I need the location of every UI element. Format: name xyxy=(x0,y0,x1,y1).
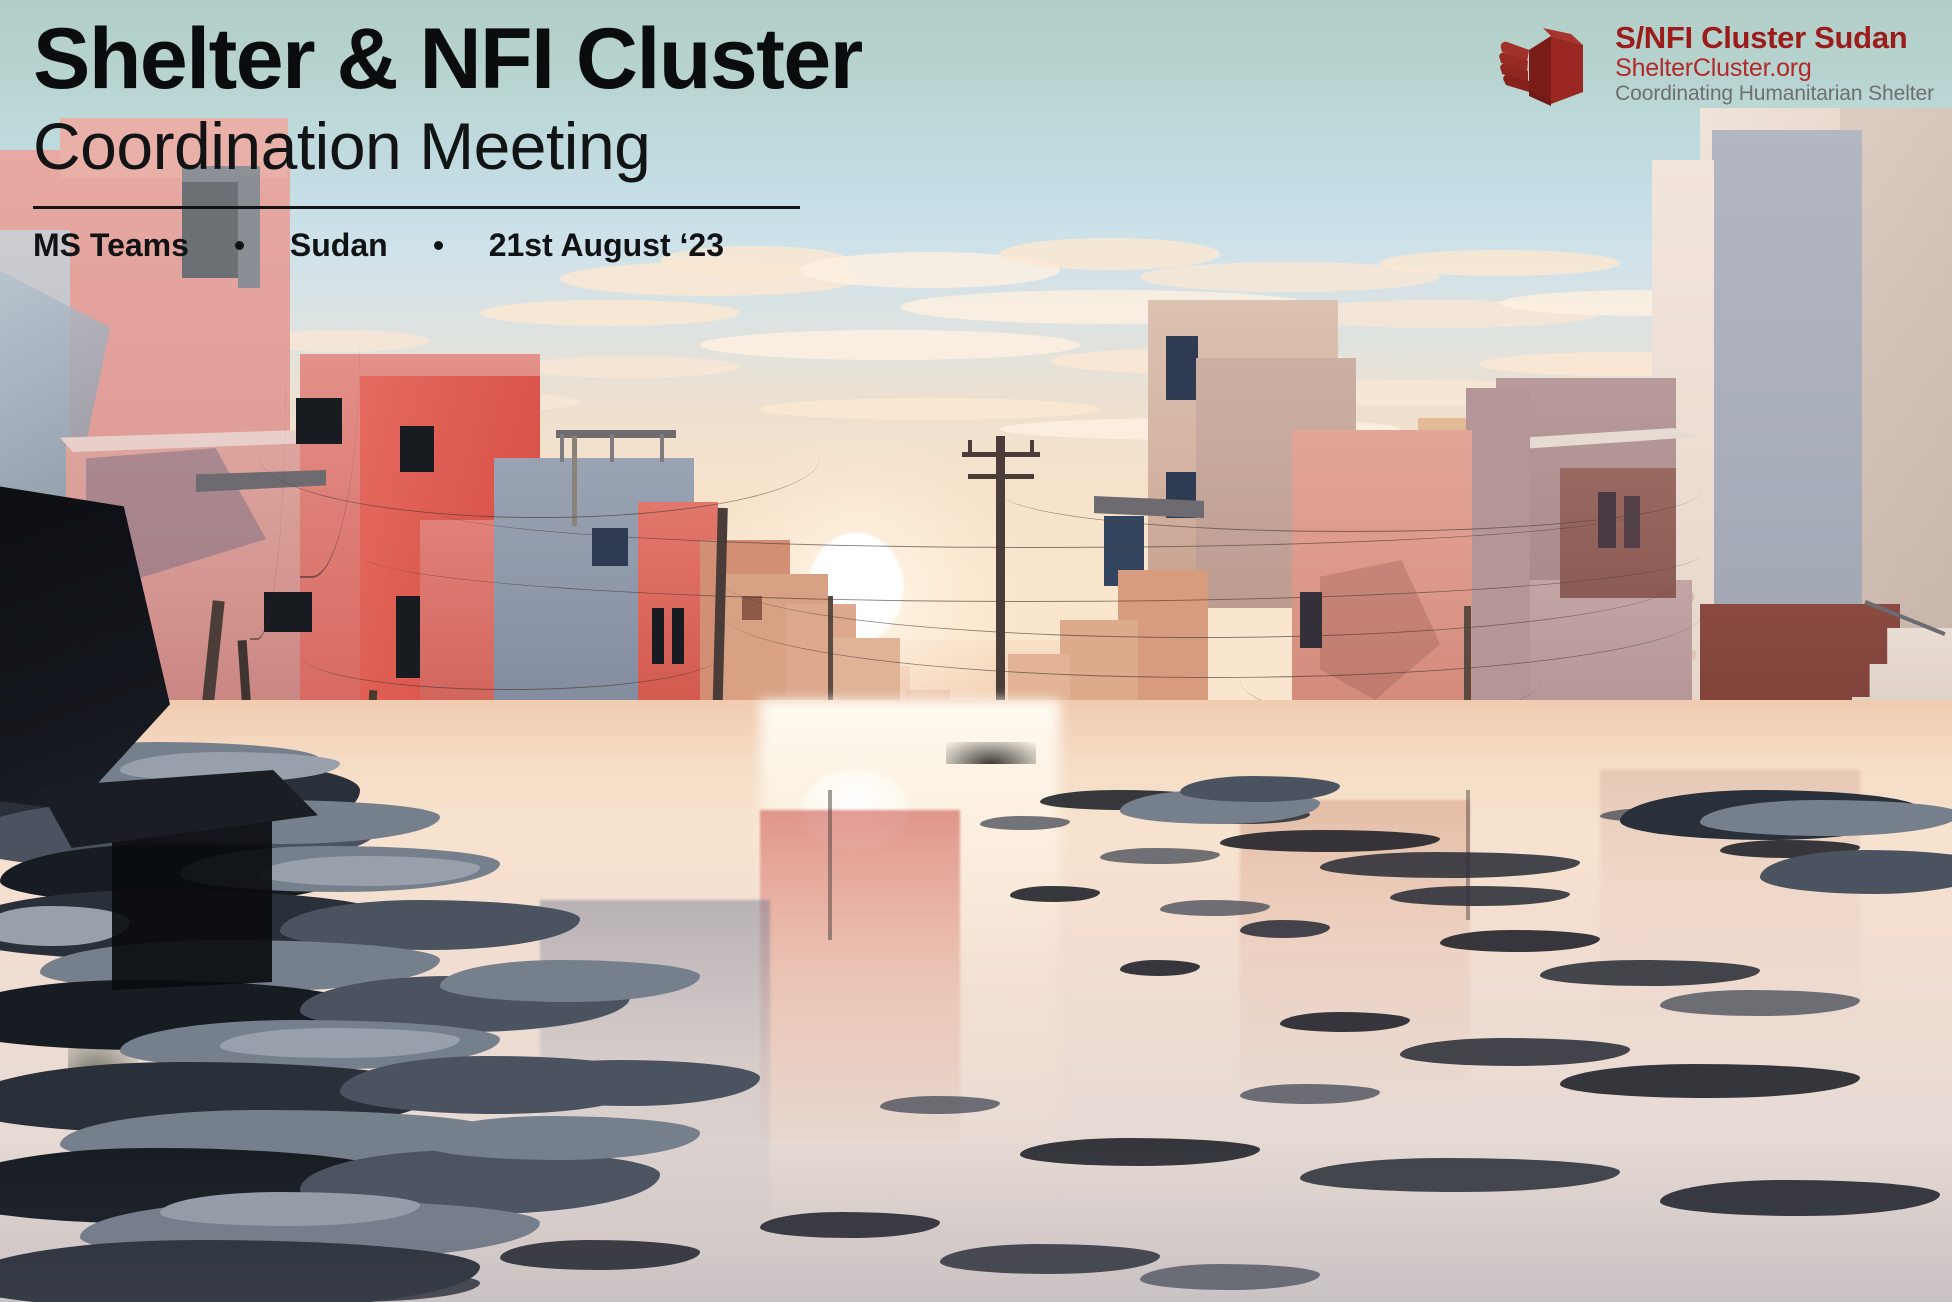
meeting-meta: MS Teams Sudan 21st August ‘23 xyxy=(33,227,1033,264)
meta-platform: MS Teams xyxy=(33,227,189,264)
reflection-red-building xyxy=(760,810,960,1140)
power-line-4 xyxy=(722,548,1702,678)
meta-date: 21st August ‘23 xyxy=(489,227,724,264)
shelter-cluster-logo: S/NFI Cluster Sudan ShelterCluster.org C… xyxy=(1499,22,1934,108)
logo-website: ShelterCluster.org xyxy=(1615,54,1934,82)
logo-title: S/NFI Cluster Sudan xyxy=(1615,22,1934,54)
headline-block: Shelter & NFI Cluster Coordination Meeti… xyxy=(33,16,1033,264)
pole-crossarm-upper xyxy=(962,452,1040,457)
logo-tagline: Coordinating Humanitarian Shelter xyxy=(1615,82,1934,106)
power-line-6 xyxy=(1000,452,1700,532)
foreground-shade xyxy=(0,1140,1952,1302)
power-line-7 xyxy=(300,620,720,690)
meta-separator-dot-1 xyxy=(235,241,244,250)
grass-tuft-center xyxy=(946,742,1036,764)
meta-location: Sudan xyxy=(290,227,388,264)
logo-text-block: S/NFI Cluster Sudan ShelterCluster.org C… xyxy=(1615,22,1934,106)
hand-house-icon xyxy=(1499,26,1603,108)
meta-separator-dot-2 xyxy=(434,241,443,250)
page-title: Shelter & NFI Cluster xyxy=(33,16,1033,104)
title-divider xyxy=(33,206,800,209)
presentation-slide: Shelter & NFI Cluster Coordination Meeti… xyxy=(0,0,1952,1302)
page-subtitle: Coordination Meeting xyxy=(33,110,1033,184)
reflected-pole-left xyxy=(828,790,832,940)
